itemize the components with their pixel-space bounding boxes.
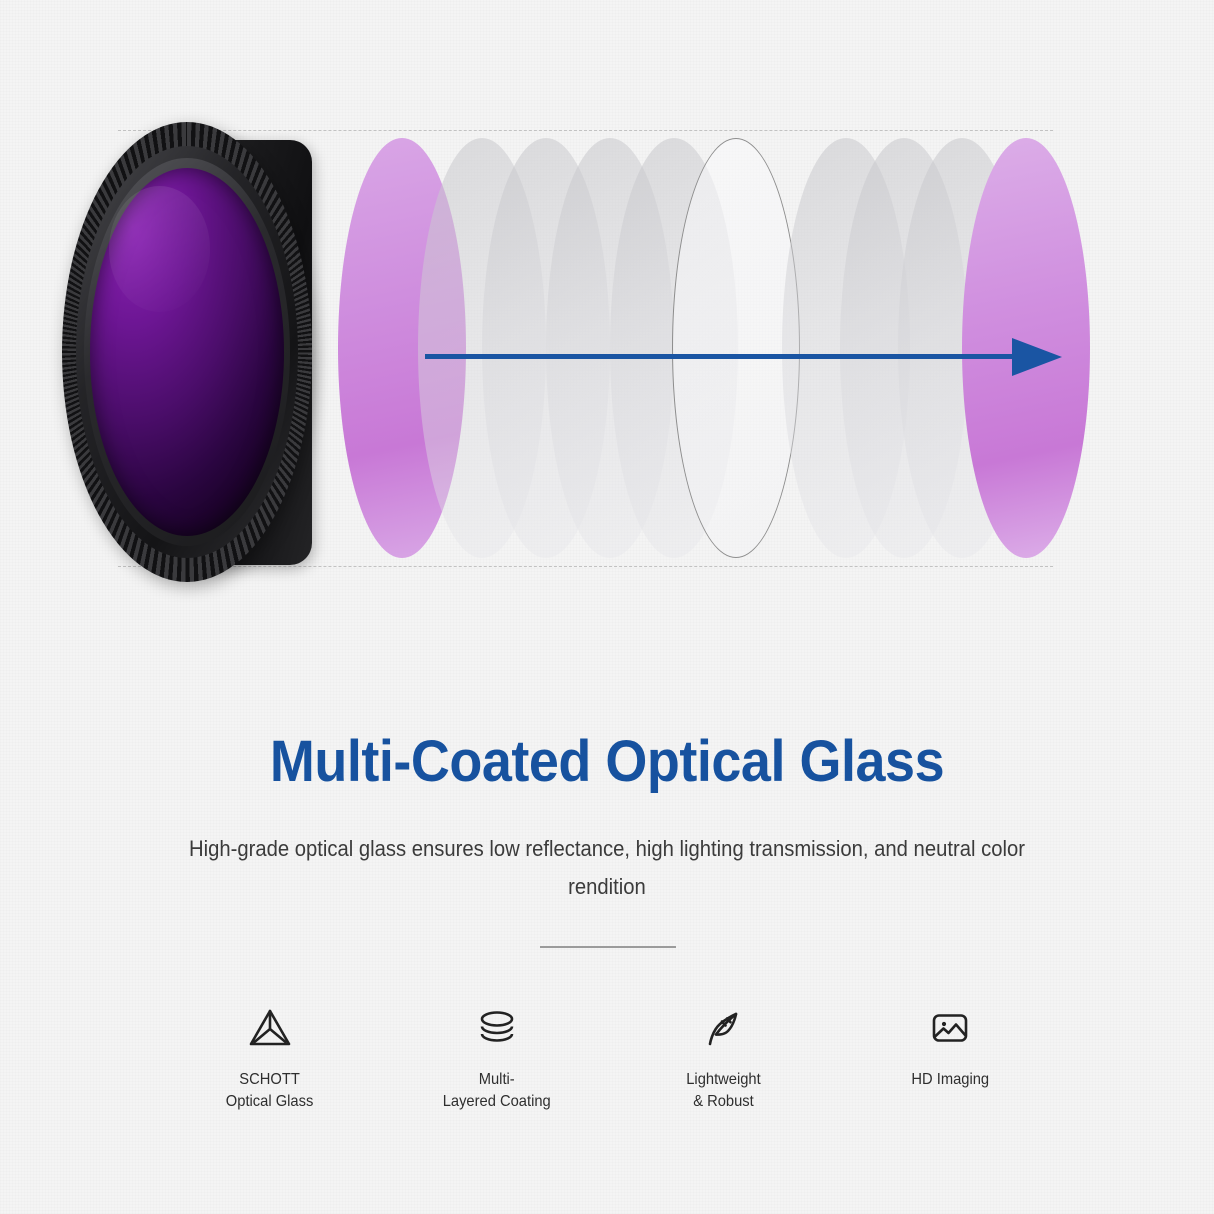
feature-item-multi-layered-coating: Multi- Layered Coating bbox=[397, 1005, 597, 1145]
feature-label: Lightweight & Robust bbox=[686, 1069, 760, 1113]
feature-label: Multi- Layered Coating bbox=[443, 1069, 551, 1113]
feature-label: SCHOTT Optical Glass bbox=[226, 1069, 314, 1113]
product-hero-scene: NEEWER® bbox=[0, 0, 1214, 690]
layer-stack-icon bbox=[474, 1005, 520, 1051]
lens-filter-product: NEEWER® bbox=[62, 122, 352, 582]
optical-glass-substrate bbox=[672, 138, 800, 558]
product-feature-page: NEEWER® Multi-Coated Optical Glass High-… bbox=[0, 0, 1214, 1214]
prism-icon bbox=[247, 1005, 293, 1051]
feature-label: HD Imaging bbox=[911, 1069, 989, 1091]
feature-item-hd-imaging: HD Imaging bbox=[850, 1005, 1050, 1145]
section-divider bbox=[540, 946, 676, 948]
page-title: Multi-Coated Optical Glass bbox=[42, 728, 1171, 795]
feature-list: SCHOTT Optical Glass Multi- Layered Coat… bbox=[170, 1005, 1050, 1145]
feather-icon bbox=[700, 1005, 746, 1051]
nd-glass-element bbox=[90, 168, 284, 536]
feature-item-schott-optical-glass: SCHOTT Optical Glass bbox=[170, 1005, 370, 1145]
feature-item-lightweight-robust: Lightweight & Robust bbox=[623, 1005, 823, 1145]
photo-icon bbox=[927, 1005, 973, 1051]
page-subtitle: High-grade optical glass ensures low ref… bbox=[164, 830, 1051, 906]
knurled-ring bbox=[62, 122, 312, 582]
light-path-arrow-head bbox=[1012, 338, 1062, 376]
light-path-arrow-line bbox=[425, 354, 1025, 359]
